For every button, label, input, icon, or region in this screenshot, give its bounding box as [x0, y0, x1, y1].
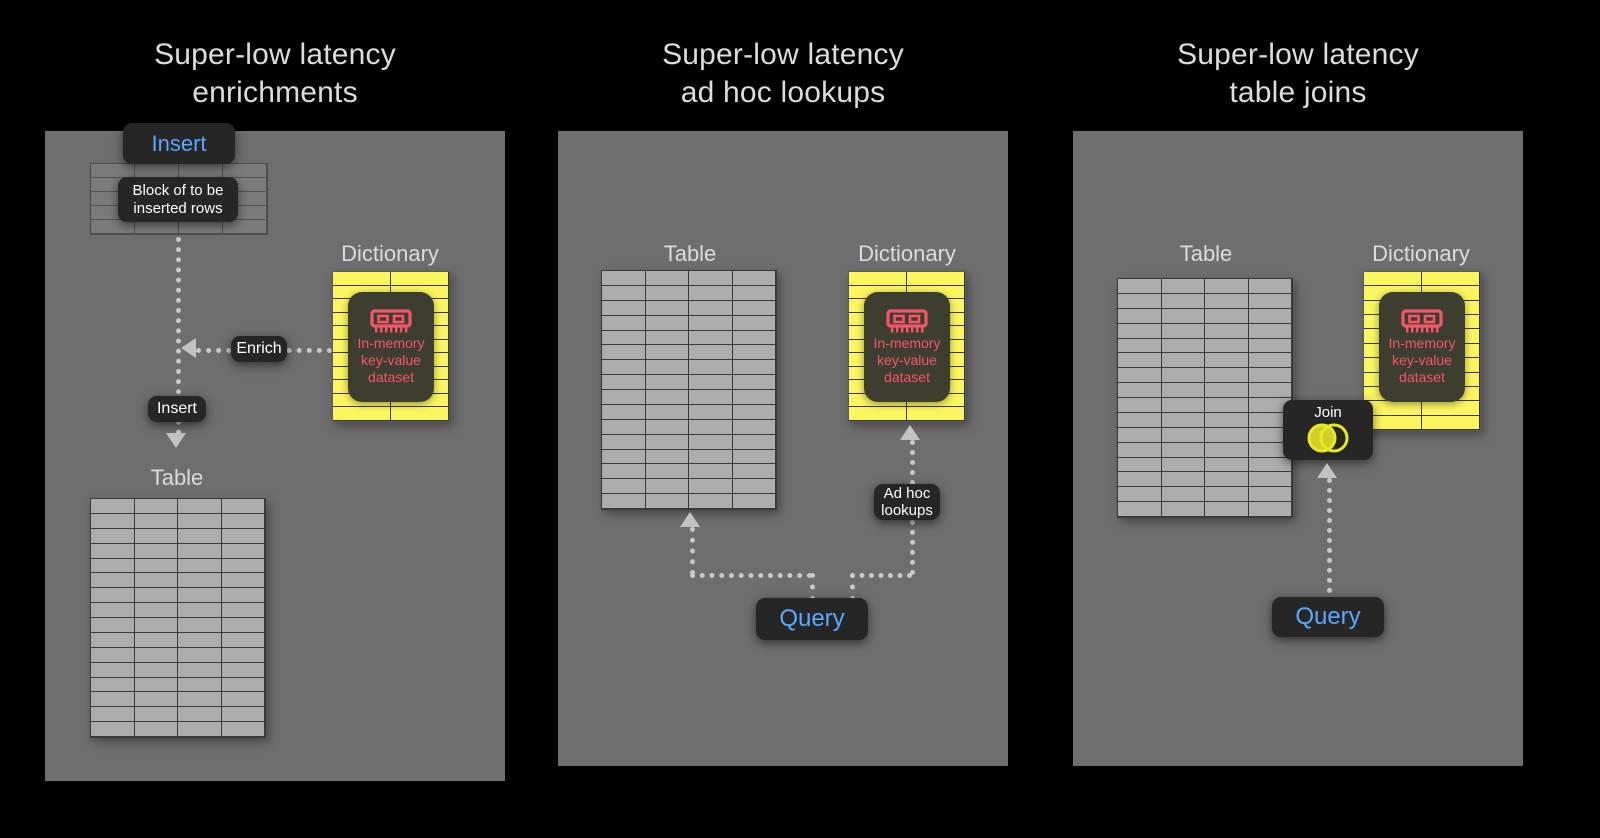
panel-title-table-joins: Super-low latency table joins — [1073, 36, 1523, 112]
table-cell — [1162, 502, 1206, 517]
table-cell — [391, 272, 449, 286]
table-cell — [222, 618, 266, 633]
table-cell — [178, 573, 222, 588]
flow-line-query-stem-right — [850, 573, 855, 601]
table-cell — [222, 559, 266, 574]
table-cell — [222, 588, 266, 603]
table-cell — [222, 499, 266, 514]
ram-icon — [886, 309, 928, 335]
flow-line-query-bus-right — [850, 573, 912, 578]
table-cell — [646, 405, 690, 420]
table-cell — [1118, 324, 1162, 339]
label-dictionary-p1: Dictionary — [310, 241, 470, 267]
table-cell — [733, 301, 777, 316]
table-cell — [91, 603, 135, 618]
table-cell — [135, 722, 179, 737]
table-cell — [333, 272, 391, 286]
table-cell — [135, 678, 179, 693]
flow-arrow-to-dictionary-p2 — [900, 425, 920, 440]
memory-label-line-3: dataset — [368, 369, 414, 386]
table-cell — [1162, 413, 1206, 428]
table-cell — [178, 499, 222, 514]
table-cell — [1118, 279, 1162, 294]
table-cell — [178, 633, 222, 648]
table-cell — [1249, 339, 1293, 354]
table-cell — [1162, 279, 1206, 294]
label-table-p1: Table — [97, 465, 257, 491]
table-cell — [1118, 413, 1162, 428]
memory-label-line-1: In-memory — [1389, 335, 1456, 352]
table-cell — [1118, 472, 1162, 487]
badge-insert-top-label: Insert — [151, 131, 206, 157]
table-cell — [1162, 324, 1206, 339]
table-cell — [602, 375, 646, 390]
table-cell — [646, 286, 690, 301]
table-cell — [1205, 472, 1249, 487]
table-cell — [646, 464, 690, 479]
panel-title-line-2: table joins — [1073, 74, 1523, 112]
label-dictionary-p3: Dictionary — [1341, 241, 1501, 267]
table-cell — [91, 559, 135, 574]
table-cell — [1249, 383, 1293, 398]
table-cell — [179, 164, 223, 178]
table-cell — [1162, 443, 1206, 458]
table-cell — [222, 603, 266, 618]
table-cell — [135, 588, 179, 603]
table-cell — [135, 618, 179, 633]
table-cell — [602, 405, 646, 420]
table-cell — [91, 164, 135, 178]
badge-join[interactable]: Join — [1283, 400, 1373, 460]
table-cell — [646, 301, 690, 316]
main-table-p2 — [601, 270, 777, 510]
badge-block-rows-label: Block of to be inserted rows — [133, 182, 224, 218]
table-cell — [1205, 487, 1249, 502]
table-cell — [689, 405, 733, 420]
flow-arrow-insert — [166, 433, 186, 448]
table-cell — [135, 573, 179, 588]
badge-enrich-label: Enrich — [236, 340, 281, 358]
table-cell — [1205, 339, 1249, 354]
panel-title-line-1: Super-low latency — [1073, 36, 1523, 74]
table-cell — [91, 663, 135, 678]
memory-label-line-1: In-memory — [358, 335, 425, 352]
panel-title-line-1: Super-low latency — [558, 36, 1008, 74]
badge-insert-bottom: Insert — [148, 396, 206, 422]
table-cell — [1205, 279, 1249, 294]
table-cell — [1249, 353, 1293, 368]
table-cell — [646, 435, 690, 450]
table-cell — [91, 692, 135, 707]
table-cell — [646, 494, 690, 509]
table-cell — [733, 345, 777, 360]
memory-label-line-2: key-value — [1392, 352, 1452, 369]
table-cell — [689, 301, 733, 316]
table-cell — [179, 220, 223, 234]
memory-box-p3: In-memory key-value dataset — [1379, 292, 1465, 402]
table-cell — [91, 573, 135, 588]
table-cell — [689, 494, 733, 509]
table-cell — [178, 603, 222, 618]
table-cell — [91, 648, 135, 663]
table-cell — [1205, 294, 1249, 309]
table-cell — [1205, 413, 1249, 428]
table-cell — [602, 450, 646, 465]
table-cell — [1249, 279, 1293, 294]
table-cell — [733, 331, 777, 346]
panel-title-line-2: ad hoc lookups — [558, 74, 1008, 112]
table-cell — [1205, 353, 1249, 368]
table-cell — [689, 286, 733, 301]
table-cell — [135, 220, 179, 234]
table-cell — [1162, 472, 1206, 487]
table-cell — [222, 633, 266, 648]
table-cell — [1205, 309, 1249, 324]
diagram-canvas: Super-low latency enrichments Insert Blo… — [0, 0, 1600, 838]
table-cell — [222, 573, 266, 588]
table-cell — [91, 514, 135, 529]
table-cell — [646, 450, 690, 465]
table-cell — [1118, 398, 1162, 413]
badge-insert-bottom-label: Insert — [157, 400, 197, 418]
table-cell — [135, 663, 179, 678]
table-cell — [1249, 309, 1293, 324]
table-cell — [689, 375, 733, 390]
table-cell — [733, 316, 777, 331]
table-cell — [135, 164, 179, 178]
table-cell — [1205, 443, 1249, 458]
table-cell — [135, 603, 179, 618]
table-cell — [907, 407, 965, 421]
ram-icon — [370, 309, 412, 335]
table-cell — [391, 407, 449, 421]
table-cell — [222, 692, 266, 707]
table-cell — [1364, 272, 1422, 286]
table-cell — [849, 272, 907, 286]
table-cell — [646, 345, 690, 360]
table-cell — [178, 618, 222, 633]
panel-title-ad-hoc: Super-low latency ad hoc lookups — [558, 36, 1008, 112]
table-cell — [1118, 368, 1162, 383]
badge-block-rows: Block of to be inserted rows — [118, 177, 238, 222]
table-cell — [646, 331, 690, 346]
table-cell — [1162, 368, 1206, 383]
table-cell — [222, 544, 266, 559]
table-cell — [733, 494, 777, 509]
table-cell — [91, 544, 135, 559]
table-cell — [135, 544, 179, 559]
table-cell — [646, 479, 690, 494]
flow-arrow-query-p3 — [1317, 463, 1337, 478]
table-cell — [1118, 309, 1162, 324]
table-cell — [178, 529, 222, 544]
table-cell — [1118, 458, 1162, 473]
table-cell — [1118, 443, 1162, 458]
flow-arrow-enrich — [181, 338, 196, 358]
table-cell — [733, 405, 777, 420]
table-cell — [1162, 309, 1206, 324]
table-cell — [733, 375, 777, 390]
table-cell — [1205, 368, 1249, 383]
table-cell — [1118, 339, 1162, 354]
table-cell — [602, 360, 646, 375]
table-cell — [733, 390, 777, 405]
table-cell — [178, 514, 222, 529]
table-cell — [1118, 428, 1162, 443]
table-cell — [178, 707, 222, 722]
table-cell — [733, 271, 777, 286]
memory-box-p1: In-memory key-value dataset — [348, 292, 434, 402]
table-cell — [646, 375, 690, 390]
table-cell — [222, 648, 266, 663]
table-cell — [222, 514, 266, 529]
table-cell — [178, 559, 222, 574]
table-cell — [1422, 401, 1480, 415]
table-cell — [1162, 428, 1206, 443]
table-cell — [178, 722, 222, 737]
memory-label-line-2: key-value — [361, 352, 421, 369]
table-cell — [178, 692, 222, 707]
table-cell — [1205, 502, 1249, 517]
table-cell — [1118, 294, 1162, 309]
table-cell — [1118, 502, 1162, 517]
memory-label-line-2: key-value — [877, 352, 937, 369]
badge-enrich: Enrich — [231, 336, 287, 362]
table-cell — [689, 450, 733, 465]
table-cell — [178, 544, 222, 559]
table-cell — [1249, 324, 1293, 339]
table-cell — [1249, 487, 1293, 502]
label-table-p3: Table — [1126, 241, 1286, 267]
table-cell — [135, 499, 179, 514]
table-cell — [602, 301, 646, 316]
table-cell — [733, 464, 777, 479]
table-cell — [1205, 383, 1249, 398]
table-cell — [602, 420, 646, 435]
table-cell — [135, 514, 179, 529]
main-table-p3 — [1117, 278, 1293, 518]
table-cell — [1162, 353, 1206, 368]
table-cell — [907, 272, 965, 286]
venn-join-icon — [1301, 422, 1355, 459]
table-cell — [1118, 353, 1162, 368]
badge-ad-hoc-lookups-label: Ad hoc lookups — [881, 485, 933, 519]
table-cell — [135, 559, 179, 574]
flow-arrow-to-table-p2 — [680, 512, 700, 527]
flow-line-query-stem-left — [810, 573, 815, 601]
flow-line-query-bus-left — [690, 573, 812, 578]
table-cell — [733, 420, 777, 435]
table-cell — [689, 331, 733, 346]
table-cell — [91, 618, 135, 633]
table-cell — [602, 479, 646, 494]
table-cell — [178, 648, 222, 663]
table-cell — [602, 494, 646, 509]
table-cell — [602, 286, 646, 301]
table-cell — [222, 663, 266, 678]
table-cell — [689, 360, 733, 375]
table-cell — [689, 479, 733, 494]
table-cell — [1205, 398, 1249, 413]
table-cell — [135, 692, 179, 707]
table-cell — [1162, 383, 1206, 398]
badge-query-p2-label: Query — [779, 605, 844, 633]
table-cell — [646, 271, 690, 286]
memory-label-line-3: dataset — [884, 369, 930, 386]
panel-title-line-1: Super-low latency — [45, 36, 505, 74]
table-cell — [646, 360, 690, 375]
table-cell — [1162, 339, 1206, 354]
table-cell — [733, 479, 777, 494]
table-cell — [646, 390, 690, 405]
table-cell — [178, 663, 222, 678]
table-cell — [602, 271, 646, 286]
badge-query-p3[interactable]: Query — [1272, 597, 1384, 637]
table-cell — [689, 435, 733, 450]
table-cell — [1205, 428, 1249, 443]
memory-label-line-3: dataset — [1399, 369, 1445, 386]
flow-line-to-table-p2 — [690, 527, 695, 575]
table-cell — [1205, 324, 1249, 339]
table-cell — [1422, 272, 1480, 286]
table-cell — [1162, 398, 1206, 413]
table-cell — [1118, 383, 1162, 398]
table-cell — [91, 220, 135, 234]
table-cell — [849, 407, 907, 421]
table-cell — [602, 464, 646, 479]
ram-icon — [1401, 309, 1443, 335]
table-cell — [1249, 368, 1293, 383]
table-cell — [222, 678, 266, 693]
panel-title-line-2: enrichments — [45, 74, 505, 112]
table-cell — [91, 707, 135, 722]
table-cell — [178, 678, 222, 693]
panel-title-enrichments: Super-low latency enrichments — [45, 36, 505, 112]
table-cell — [602, 331, 646, 346]
table-cell — [1162, 458, 1206, 473]
table-cell — [223, 220, 267, 234]
table-cell — [1249, 472, 1293, 487]
table-cell — [1162, 487, 1206, 502]
table-cell — [1249, 294, 1293, 309]
table-cell — [646, 420, 690, 435]
table-cell — [1118, 487, 1162, 502]
table-cell — [689, 345, 733, 360]
badge-join-label: Join — [1314, 404, 1342, 421]
table-cell — [91, 633, 135, 648]
label-table-p2: Table — [610, 241, 770, 267]
label-dictionary-p2: Dictionary — [827, 241, 987, 267]
main-table-p1 — [90, 498, 266, 738]
table-cell — [689, 420, 733, 435]
table-cell — [1422, 416, 1480, 430]
table-cell — [333, 407, 391, 421]
table-cell — [1205, 458, 1249, 473]
table-cell — [1249, 458, 1293, 473]
table-cell — [733, 435, 777, 450]
table-cell — [646, 316, 690, 331]
memory-label-line-1: In-memory — [874, 335, 941, 352]
table-cell — [222, 529, 266, 544]
table-cell — [602, 316, 646, 331]
table-cell — [1162, 294, 1206, 309]
badge-insert-top[interactable]: Insert — [123, 123, 235, 164]
table-cell — [135, 633, 179, 648]
table-cell — [135, 707, 179, 722]
table-cell — [733, 360, 777, 375]
table-cell — [602, 435, 646, 450]
table-cell — [602, 345, 646, 360]
table-cell — [135, 648, 179, 663]
table-cell — [91, 499, 135, 514]
badge-query-p2[interactable]: Query — [756, 598, 868, 640]
flow-line-query-p3 — [1327, 478, 1332, 603]
table-cell — [222, 722, 266, 737]
table-cell — [602, 390, 646, 405]
table-cell — [91, 529, 135, 544]
table-cell — [91, 722, 135, 737]
table-cell — [135, 529, 179, 544]
table-cell — [733, 286, 777, 301]
table-cell — [689, 271, 733, 286]
table-cell — [689, 316, 733, 331]
badge-query-p3-label: Query — [1295, 603, 1360, 631]
table-cell — [689, 464, 733, 479]
badge-ad-hoc-lookups: Ad hoc lookups — [874, 484, 940, 520]
table-cell — [91, 678, 135, 693]
table-cell — [1249, 502, 1293, 517]
table-cell — [91, 588, 135, 603]
table-cell — [222, 707, 266, 722]
memory-box-p2: In-memory key-value dataset — [864, 292, 950, 402]
table-cell — [733, 450, 777, 465]
table-cell — [223, 164, 267, 178]
table-cell — [178, 588, 222, 603]
table-cell — [689, 390, 733, 405]
